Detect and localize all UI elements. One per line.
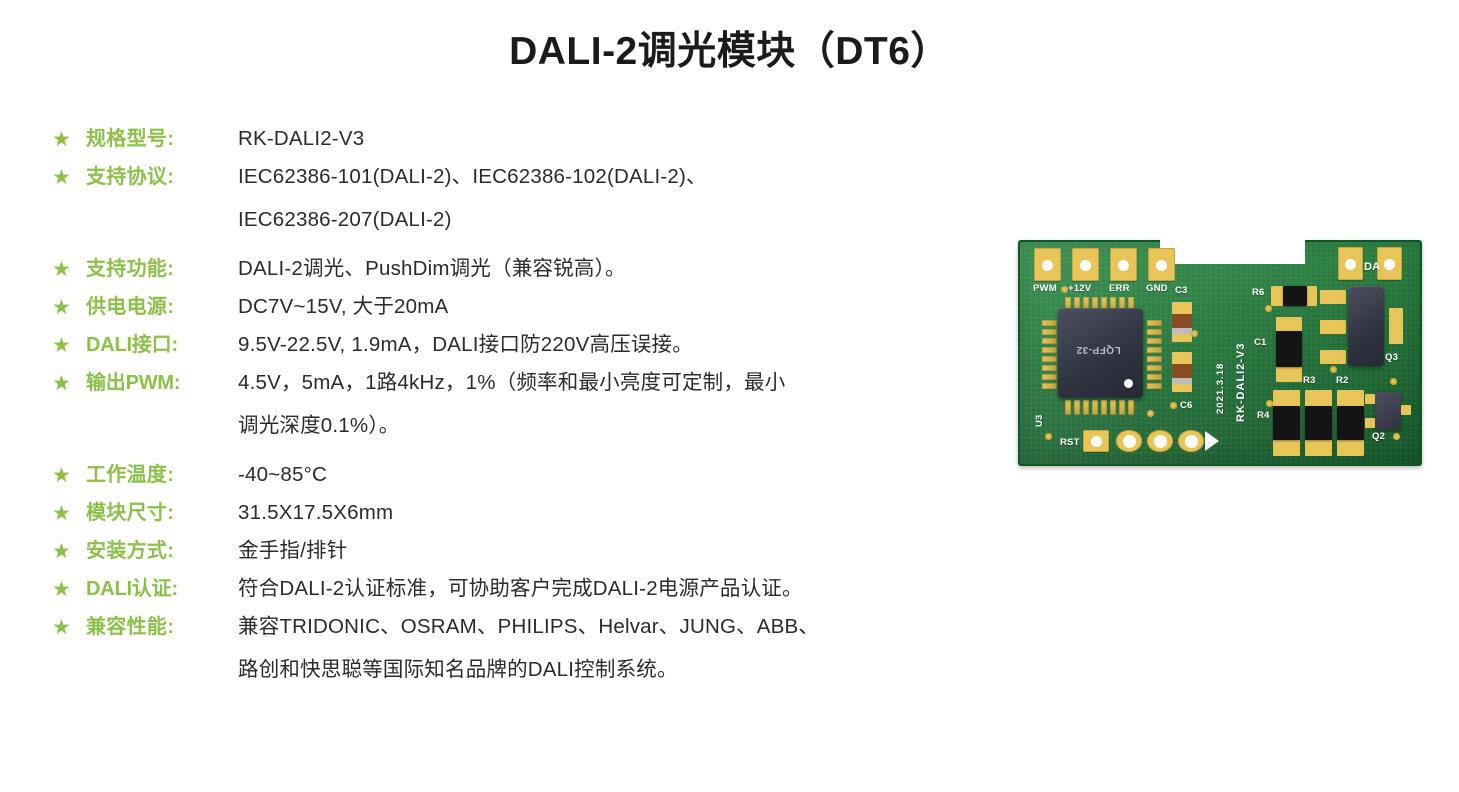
star-icon: ★ <box>52 292 86 323</box>
spec-label-power: 供电电源: <box>86 292 238 322</box>
mcu-chip: LQFP-32 <box>1058 308 1143 398</box>
via <box>1390 378 1397 385</box>
spec-value-dali-interface: 9.5V-22.5V, 1.9mA，DALI接口防220V高压误接。 <box>238 330 982 360</box>
star-icon: ★ <box>52 460 86 491</box>
spec-row-mounting: ★ 安装方式: 金手指/排针 <box>52 536 982 567</box>
pad-q3-1 <box>1320 290 1346 304</box>
spec-value-line: 兼容TRIDONIC、OSRAM、PHILIPS、Helvar、JUNG、ABB… <box>238 612 982 642</box>
pad-err <box>1110 248 1137 281</box>
spec-label-compatibility: 兼容性能: <box>86 612 238 642</box>
pad-da-1 <box>1338 247 1363 280</box>
star-icon: ★ <box>52 536 86 567</box>
board-notch <box>1160 238 1305 264</box>
pad-da-2 <box>1377 247 1402 280</box>
star-icon: ★ <box>52 162 86 193</box>
spec-row-temperature: ★ 工作温度: -40~85°C <box>52 460 982 491</box>
star-icon: ★ <box>52 498 86 529</box>
spec-row-dimensions: ★ 模块尺寸: 31.5X17.5X6mm <box>52 498 982 529</box>
silk-board-date: 2021.3.18 <box>1215 363 1226 414</box>
spec-label-dali-interface: DALI接口: <box>86 330 238 360</box>
silk-da: DA <box>1364 261 1380 273</box>
spec-row-dali-interface: ★ DALI接口: 9.5V-22.5V, 1.9mA，DALI接口防220V高… <box>52 330 982 361</box>
silk-r4: R4 <box>1257 410 1270 421</box>
row-spacer <box>52 448 982 460</box>
component-q2 <box>1375 392 1401 430</box>
spec-label-dimensions: 模块尺寸: <box>86 498 238 528</box>
spec-label-mounting: 安装方式: <box>86 536 238 566</box>
spec-value-line: RK-DALI2-V3 <box>238 124 982 154</box>
component-q3 <box>1348 286 1384 366</box>
spec-value-line: 31.5X17.5X6mm <box>238 498 982 528</box>
component-r4 <box>1273 390 1300 456</box>
test-pad-3 <box>1178 430 1204 452</box>
pad-q2-2 <box>1365 418 1375 428</box>
via <box>1061 286 1068 293</box>
silk-board-name: RK-DALI2-V3 <box>1235 343 1247 422</box>
spec-value-line: 金手指/排针 <box>238 536 982 566</box>
star-icon: ★ <box>52 124 86 155</box>
star-icon: ★ <box>52 612 86 643</box>
spec-value-line: DALI-2调光、PushDim调光（兼容锐高）。 <box>238 254 982 284</box>
spec-value-protocol: IEC62386-101(DALI-2)、IEC62386-102(DALI-2… <box>238 162 982 235</box>
component-c6 <box>1172 352 1192 392</box>
spec-value-line: 4.5V，5mA，1路4kHz，1%（频率和最小亮度可定制，最小 <box>238 368 982 398</box>
silk-pwm: PWM <box>1033 283 1057 294</box>
spec-value-power: DC7V~15V, 大于20mA <box>238 292 982 322</box>
spec-label-pwm-output: 输出PWM: <box>86 368 238 398</box>
silk-rst: RST <box>1060 437 1080 448</box>
pad-q3-tab <box>1389 308 1403 344</box>
pad-pwm <box>1034 248 1061 281</box>
polarity-marker-icon <box>1205 431 1219 451</box>
spec-value-compatibility: 兼容TRIDONIC、OSRAM、PHILIPS、Helvar、JUNG、ABB… <box>238 612 982 685</box>
pad-q3-3 <box>1320 350 1346 364</box>
spec-value-temperature: -40~85°C <box>238 460 982 490</box>
chip-legs-right <box>1147 320 1162 389</box>
silk-c1: C1 <box>1254 337 1267 348</box>
pad-q2-1 <box>1365 394 1375 404</box>
spec-value-line: 调光深度0.1%）。 <box>238 411 982 441</box>
silk-r6: R6 <box>1252 287 1265 298</box>
spec-label-model: 规格型号: <box>86 124 238 154</box>
product-photo: PWM +12V ERR GND DA <box>1012 228 1424 468</box>
via <box>1045 433 1052 440</box>
pad-q3-2 <box>1320 320 1346 334</box>
via <box>1393 433 1400 440</box>
component-c1 <box>1276 317 1302 382</box>
chip-marking: LQFP-32 <box>1076 344 1121 355</box>
component-r6 <box>1271 286 1317 306</box>
spec-value-line: DC7V~15V, 大于20mA <box>238 292 982 322</box>
spec-label-certification: DALI认证: <box>86 574 238 604</box>
via <box>1147 410 1154 417</box>
spec-value-line: IEC62386-207(DALI-2) <box>238 205 982 235</box>
silk-err: ERR <box>1109 283 1130 294</box>
spec-row-function: ★ 支持功能: DALI-2调光、PushDim调光（兼容锐高）。 <box>52 254 982 285</box>
spec-label-protocol: 支持协议: <box>86 162 238 192</box>
via <box>1170 402 1177 409</box>
star-icon: ★ <box>52 368 86 399</box>
silk-gnd: GND <box>1146 283 1168 294</box>
spec-label-function: 支持功能: <box>86 254 238 284</box>
silk-12v: +12V <box>1068 283 1091 294</box>
spec-label-temperature: 工作温度: <box>86 460 238 490</box>
spec-value-line: 9.5V-22.5V, 1.9mA，DALI接口防220V高压误接。 <box>238 330 982 360</box>
spec-row-compatibility: ★ 兼容性能: 兼容TRIDONIC、OSRAM、PHILIPS、Helvar、… <box>52 612 982 685</box>
pad-gnd <box>1148 248 1175 281</box>
spec-value-model: RK-DALI2-V3 <box>238 124 982 154</box>
chip-legs-left <box>1042 320 1057 389</box>
row-spacer <box>52 242 982 254</box>
silk-q3: Q3 <box>1385 352 1398 363</box>
star-icon: ★ <box>52 254 86 285</box>
spec-value-pwm-output: 4.5V，5mA，1路4kHz，1%（频率和最小亮度可定制，最小 调光深度0.1… <box>238 368 982 441</box>
spec-row-model: ★ 规格型号: RK-DALI2-V3 <box>52 124 982 155</box>
pcb-board: PWM +12V ERR GND DA <box>1018 240 1422 466</box>
silk-r2: R2 <box>1336 375 1349 386</box>
spec-row-protocol: ★ 支持协议: IEC62386-101(DALI-2)、IEC62386-10… <box>52 162 982 235</box>
spec-value-line: IEC62386-101(DALI-2)、IEC62386-102(DALI-2… <box>238 162 982 192</box>
spec-value-line: -40~85°C <box>238 460 982 490</box>
spec-list: ★ 规格型号: RK-DALI2-V3 ★ 支持协议: IEC62386-101… <box>52 124 982 692</box>
component-c3 <box>1172 302 1192 342</box>
spec-value-line: 路创和快思聪等国际知名品牌的DALI控制系统。 <box>238 655 982 685</box>
spec-value-line: 符合DALI-2认证标准，可协助客户完成DALI-2电源产品认证。 <box>238 574 982 604</box>
component-r2 <box>1337 390 1364 456</box>
test-pad-1 <box>1116 430 1142 452</box>
via <box>1265 305 1272 312</box>
spec-row-power: ★ 供电电源: DC7V~15V, 大于20mA <box>52 292 982 323</box>
page-title: DALI-2调光模块（DT6） <box>0 28 1459 77</box>
star-icon: ★ <box>52 330 86 361</box>
via <box>1266 400 1273 407</box>
silk-c6: C6 <box>1180 400 1193 411</box>
via <box>1330 366 1337 373</box>
product-spec-page: DALI-2调光模块（DT6） ★ 规格型号: RK-DALI2-V3 ★ 支持… <box>0 0 1459 792</box>
spec-row-certification: ★ DALI认证: 符合DALI-2认证标准，可协助客户完成DALI-2电源产品… <box>52 574 982 605</box>
test-pad-rst <box>1083 430 1109 452</box>
silk-r3: R3 <box>1303 375 1316 386</box>
spec-value-mounting: 金手指/排针 <box>238 536 982 566</box>
spec-value-dimensions: 31.5X17.5X6mm <box>238 498 982 528</box>
pad-q2-3 <box>1401 405 1411 415</box>
silk-u3: U3 <box>1034 414 1045 427</box>
silk-c3: C3 <box>1175 285 1188 296</box>
component-r3 <box>1305 390 1332 456</box>
spec-row-pwm-output: ★ 输出PWM: 4.5V，5mA，1路4kHz，1%（频率和最小亮度可定制，最… <box>52 368 982 441</box>
star-icon: ★ <box>52 574 86 605</box>
test-pad-2 <box>1147 430 1173 452</box>
via <box>1191 330 1198 337</box>
silk-q2: Q2 <box>1372 431 1385 442</box>
spec-value-function: DALI-2调光、PushDim调光（兼容锐高）。 <box>238 254 982 284</box>
pad-12v <box>1072 248 1099 281</box>
chip-legs-bottom <box>1065 400 1134 415</box>
spec-value-certification: 符合DALI-2认证标准，可协助客户完成DALI-2电源产品认证。 <box>238 574 982 604</box>
